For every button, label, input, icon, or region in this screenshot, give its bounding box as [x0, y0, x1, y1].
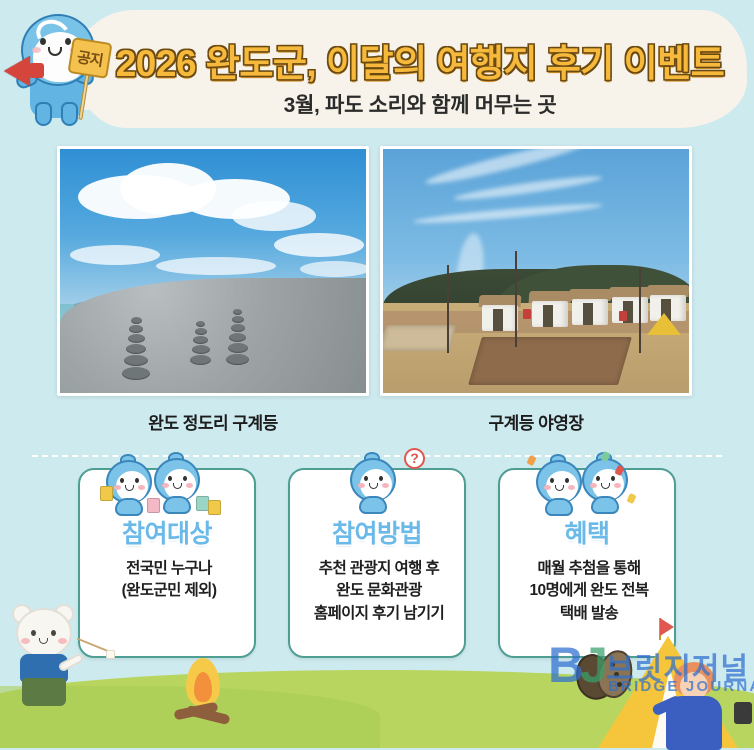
- bare-tree: [639, 267, 641, 353]
- stone-cairn: [122, 317, 150, 381]
- wooden-deck: [380, 325, 456, 351]
- notice-sign: 공지: [67, 37, 112, 79]
- red-drum: [619, 311, 627, 321]
- megaphone-icon: [4, 56, 30, 86]
- cloud: [300, 261, 369, 277]
- yellow-dome-tent: [647, 313, 681, 335]
- mascot-eye-left: [40, 38, 46, 45]
- glamping-tent: [569, 289, 611, 325]
- mascot-leg-left: [35, 102, 52, 126]
- participants-card-title: 참여대상: [80, 514, 254, 550]
- pebble-beach: [60, 278, 366, 393]
- corner-accent: [734, 702, 752, 724]
- page-title: 2026 완도군, 이달의 여행지 후기 이벤트: [110, 40, 730, 88]
- bridge-journal-watermark: BJ 브릿지저널 BRIDGE JOURNAL: [548, 638, 748, 704]
- mascot-thinking-icon: [348, 456, 400, 512]
- benefit-card-body: 매월 추첨을 통해 10명에게 완도 전복 택배 발송: [506, 558, 672, 625]
- cloud: [156, 257, 276, 275]
- photo-caption-right: 구계등 야영장: [380, 409, 692, 434]
- jeongdori-gugyedeung-photo: [57, 146, 369, 396]
- cloud: [232, 201, 316, 231]
- stone-cairn: [226, 309, 249, 366]
- bj-monogram: BJ: [548, 640, 604, 690]
- glamping-tent: [609, 287, 651, 323]
- stone-cairn: [190, 321, 211, 366]
- red-drum: [523, 309, 531, 319]
- shopping-bag-icon: [100, 486, 113, 501]
- shopping-bag-icon: [208, 500, 221, 515]
- glamping-tent: [529, 291, 571, 327]
- bare-tree: [515, 251, 517, 347]
- bare-tree: [447, 265, 449, 353]
- participants-card-body: 전국민 누구나 (완도군민 제외): [86, 558, 252, 603]
- mascot-celebrate-left-icon: [534, 458, 586, 514]
- mascot-eye-right: [65, 38, 71, 45]
- header-mascot: 공지: [4, 6, 114, 128]
- megaphone-handle: [29, 63, 44, 78]
- how-to-join-card-body: 추천 관광지 여행 후 완도 문화관광 홈페이지 후기 남기기: [296, 558, 462, 625]
- cloud: [70, 245, 160, 265]
- marshmallow-icon: [106, 650, 115, 659]
- mascot-cheek-left: [32, 47, 41, 53]
- mascot-celebrate-right-icon: [580, 456, 632, 512]
- shopping-bag-icon: [147, 498, 160, 513]
- campfire-icon: [170, 658, 240, 724]
- benefit-card-title: 혜택: [500, 514, 674, 550]
- how-to-join-card-title: 참여방법: [290, 514, 464, 550]
- white-bear-character: [6, 608, 92, 712]
- page-subtitle: 3월, 파도 소리와 함께 머무는 곳: [110, 89, 730, 119]
- gugyedeung-campground-photo: [380, 146, 692, 396]
- photo-caption-left: 완도 정도리 구계등: [57, 409, 369, 434]
- question-mark-icon: ?: [404, 448, 425, 469]
- wooden-deck: [468, 337, 632, 385]
- cloud: [274, 233, 364, 257]
- watermark-english-name: BRIDGE JOURNAL: [608, 678, 754, 695]
- poster-header: 공지 2026 완도군, 이달의 여행지 후기 이벤트 3월, 파도 소리와 함…: [0, 0, 754, 136]
- mascot-leg-right: [61, 102, 78, 126]
